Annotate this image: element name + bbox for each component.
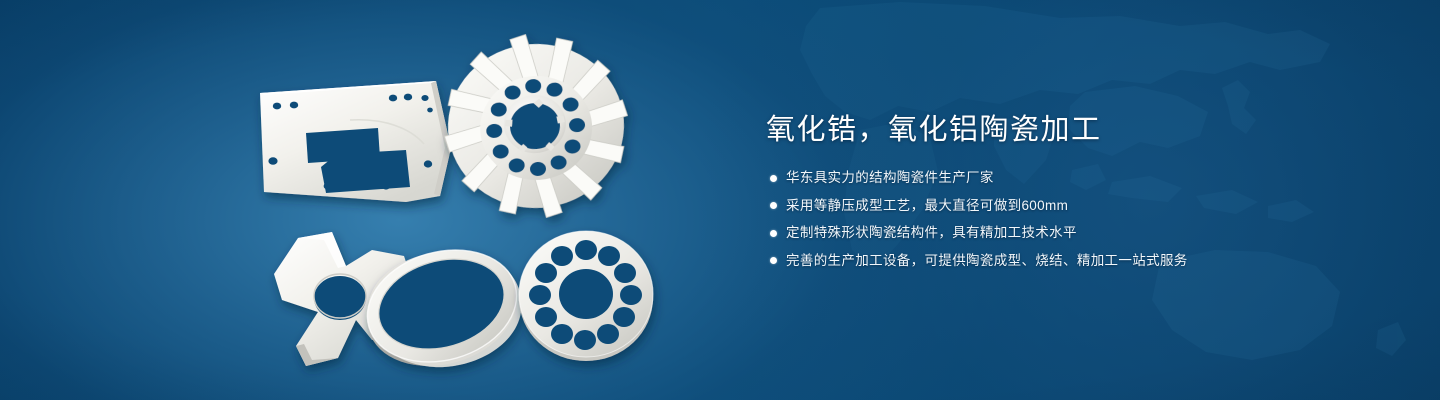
feature-bullet-item: 定制特殊形状陶瓷结构件，具有精加工技术水平: [770, 223, 1386, 243]
ceramic-perforated-disc: [519, 231, 653, 361]
bullet-dot-icon: [770, 230, 777, 237]
feature-bullet-item: 完善的生产加工设备，可提供陶瓷成型、烧结、精加工一站式服务: [770, 251, 1386, 271]
bullet-dot-icon: [770, 257, 777, 264]
bullet-dot-icon: [770, 202, 777, 209]
ceramic-impeller-disc: [438, 28, 634, 224]
bullet-dot-icon: [770, 175, 777, 182]
banner-headline: 氧化锆，氧化铝陶瓷加工: [766, 112, 1386, 148]
marketing-copy-block: 氧化锆，氧化铝陶瓷加工 华东具实力的结构陶瓷件生产厂家 采用等静压成型工艺，最大…: [766, 112, 1386, 271]
feature-bullet-item: 采用等静压成型工艺，最大直径可做到600mm: [770, 196, 1386, 216]
feature-bullet-list: 华东具实力的结构陶瓷件生产厂家 采用等静压成型工艺，最大直径可做到600mm 定…: [766, 168, 1386, 270]
feature-bullet-text: 完善的生产加工设备，可提供陶瓷成型、烧结、精加工一站式服务: [786, 251, 1188, 271]
feature-bullet-text: 采用等静压成型工艺，最大直径可做到600mm: [786, 196, 1068, 216]
product-hero-banner: 氧化锆，氧化铝陶瓷加工 华东具实力的结构陶瓷件生产厂家 采用等静压成型工艺，最大…: [0, 0, 1440, 400]
feature-bullet-text: 华东具实力的结构陶瓷件生产厂家: [786, 168, 994, 188]
feature-bullet-text: 定制特殊形状陶瓷结构件，具有精加工技术水平: [786, 223, 1077, 243]
ceramic-mounting-plate: [260, 81, 451, 202]
feature-bullet-item: 华东具实力的结构陶瓷件生产厂家: [770, 168, 1386, 188]
ceramic-products-image: [238, 36, 698, 384]
